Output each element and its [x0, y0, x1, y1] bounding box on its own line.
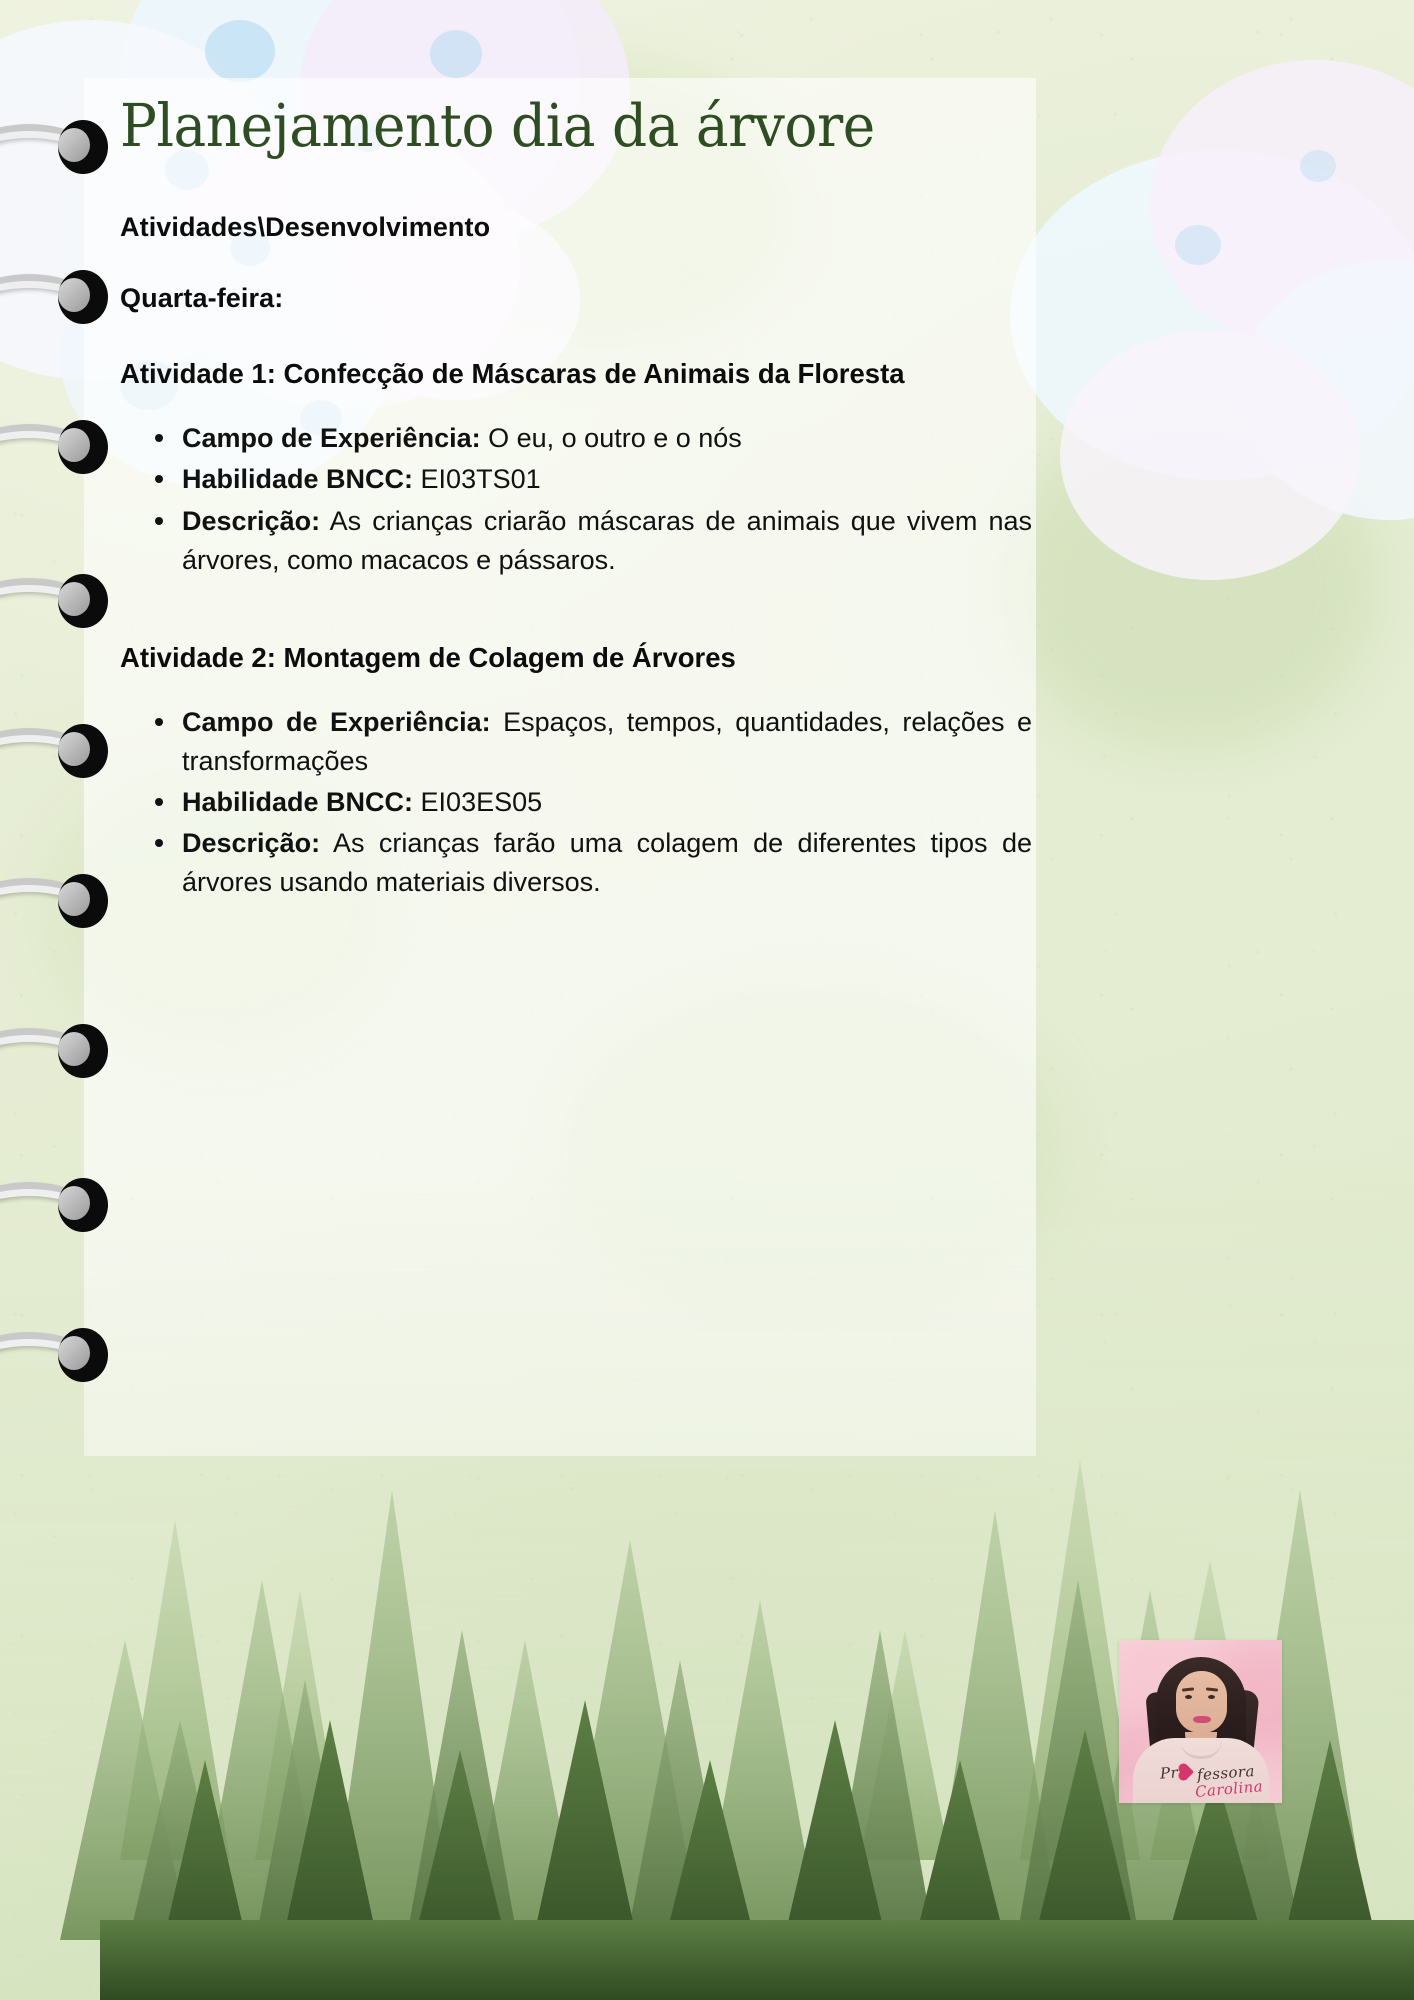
item-label: Campo de Experiência: — [182, 423, 481, 453]
list-item: Campo de Experiência: O eu, o outro e o … — [182, 419, 1032, 458]
spacer — [120, 314, 1032, 354]
face — [1176, 1671, 1227, 1733]
list-item: Habilidade BNCC: EI03ES05 — [182, 783, 1032, 822]
activity-heading: Atividade 1: Confecção de Máscaras de An… — [120, 354, 1032, 393]
spiral-ring — [0, 722, 130, 792]
page-title: Planejamento dia da árvore — [120, 96, 968, 156]
spiral-ring — [0, 418, 130, 488]
forest-illustration — [0, 1160, 1414, 2000]
spacer — [120, 156, 1032, 212]
list-item: Habilidade BNCC: EI03TS01 — [182, 460, 1032, 499]
item-value: EI03TS01 — [421, 464, 541, 494]
item-value: O eu, o outro e o nós — [488, 423, 742, 453]
spiral-ring — [0, 268, 130, 338]
lips — [1193, 1716, 1211, 1723]
activity-item-list: Campo de Experiência: Espaços, tempos, q… — [120, 703, 1032, 903]
spacer — [120, 393, 1032, 419]
item-label: Descrição: — [182, 828, 320, 858]
activity-item-list: Campo de Experiência: O eu, o outro e o … — [120, 419, 1032, 580]
activity-block-2: Atividade 2: Montagem de Colagem de Árvo… — [120, 638, 1032, 903]
spacer — [120, 582, 1032, 638]
author-photo-badge: Pr fessora Carolina — [1119, 1640, 1282, 1803]
item-label: Habilidade BNCC: — [182, 464, 413, 494]
spacer — [120, 677, 1032, 703]
spiral-ring — [0, 1022, 130, 1092]
item-label: Descrição: — [182, 506, 320, 536]
spiral-ring — [0, 1326, 130, 1396]
document-content: Planejamento dia da árvore Atividades\De… — [120, 96, 1032, 905]
day-label: Quarta-feira: — [120, 283, 1032, 314]
item-value: EI03ES05 — [421, 787, 543, 817]
list-item: Descrição: As crianças farão uma colagem… — [182, 824, 1032, 902]
eye-left — [1185, 1695, 1192, 1699]
item-label: Habilidade BNCC: — [182, 787, 413, 817]
activity-block-1: Atividade 1: Confecção de Máscaras de An… — [120, 354, 1032, 580]
list-item: Descrição: As crianças criarão máscaras … — [182, 502, 1032, 580]
item-label: Campo de Experiência: — [182, 707, 491, 737]
spiral-ring — [0, 118, 130, 188]
activity-heading: Atividade 2: Montagem de Colagem de Árvo… — [120, 638, 1032, 677]
badge-text-professora-pr: Pr — [1159, 1763, 1178, 1782]
spiral-ring — [0, 1176, 130, 1246]
spiral-ring — [0, 872, 130, 942]
spiral-ring — [0, 572, 130, 642]
list-item: Campo de Experiência: Espaços, tempos, q… — [182, 703, 1032, 781]
eye-right — [1208, 1695, 1215, 1699]
section-label: Atividades\Desenvolvimento — [120, 212, 1032, 243]
spacer — [120, 243, 1032, 283]
